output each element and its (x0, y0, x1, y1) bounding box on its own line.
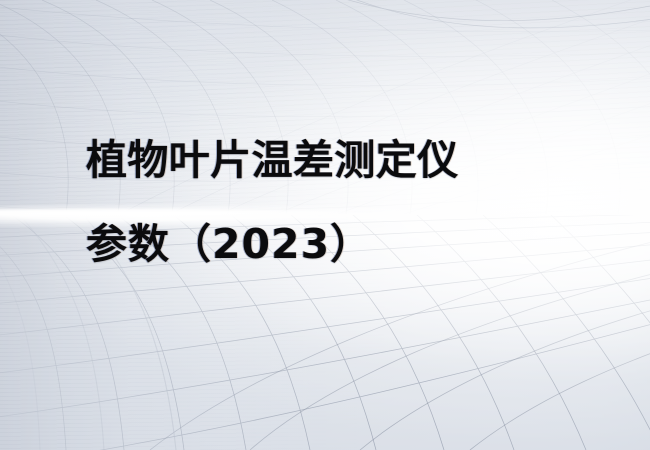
title-line-primary: 植物叶片温差测定仪 (86, 118, 606, 202)
title-line-secondary: 参数（2023） (86, 202, 606, 286)
title-slide: 植物叶片温差测定仪 参数（2023） (0, 0, 650, 450)
page-title: 植物叶片温差测定仪 参数（2023） (86, 118, 606, 286)
